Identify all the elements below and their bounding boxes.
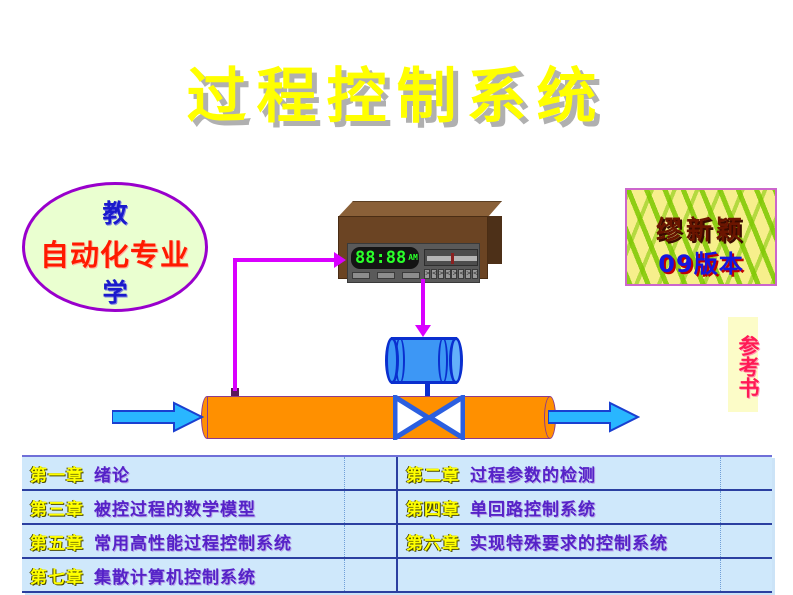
controller-device[interactable]: 88:88AM > < > < > < > < bbox=[338, 201, 502, 279]
chapter-number: 第一章 bbox=[30, 466, 84, 486]
keypad-key-2[interactable]: < bbox=[431, 269, 437, 279]
chapter-number: 第三章 bbox=[30, 500, 84, 520]
author-box: 缪新颖 09版本 bbox=[625, 188, 777, 286]
department-oval-bottom-char: 学 bbox=[25, 273, 205, 309]
slider-knob[interactable] bbox=[451, 253, 454, 264]
keypad-key-8[interactable]: < bbox=[472, 269, 478, 279]
table-row[interactable]: 第五章常用高性能过程控制系统 第六章实现特殊要求的控制系统 bbox=[22, 524, 772, 558]
chapter-cell-3[interactable]: 第三章被控过程的数学模型 bbox=[22, 490, 345, 524]
valve-actuator bbox=[385, 337, 463, 384]
pipe-body bbox=[207, 396, 550, 439]
controller-button-row[interactable] bbox=[352, 272, 420, 280]
chapter-cell-4[interactable]: 第四章单回路控制系统 bbox=[397, 490, 721, 524]
inlet-flow-arrow-icon bbox=[112, 401, 204, 437]
contents-table: 第一章绪论 第二章过程参数的检测 第三章被控过程的数学模型 第四章单回路控制系统… bbox=[22, 455, 772, 593]
controller-front-face: 88:88AM > < > < > < > < bbox=[338, 216, 488, 279]
table-row[interactable]: 第一章绪论 第二章过程参数的检测 bbox=[22, 456, 772, 490]
keypad-key-6[interactable]: < bbox=[458, 269, 464, 279]
table-row[interactable]: 第七章集散计算机控制系统 bbox=[22, 558, 772, 592]
outlet-flow-arrow-icon bbox=[548, 401, 640, 437]
chapter-title: 绪论 bbox=[94, 466, 130, 486]
measurement-signal-line-horizontal bbox=[233, 258, 338, 262]
chapter-title: 集散计算机控制系统 bbox=[94, 568, 256, 588]
department-oval-top-char: 教 bbox=[25, 194, 205, 230]
spacer-cell-right-1 bbox=[721, 456, 772, 490]
author-version: 09版本 bbox=[627, 244, 775, 279]
chapter-cell-7[interactable]: 第七章集散计算机控制系统 bbox=[22, 558, 345, 592]
chapter-cell-1[interactable]: 第一章绪论 bbox=[22, 456, 345, 490]
spacer-cell-right-4 bbox=[721, 558, 772, 592]
keypad-key-7[interactable]: > bbox=[465, 269, 471, 279]
chapter-number: 第七章 bbox=[30, 568, 84, 588]
page-title: 过程控制系统 bbox=[0, 66, 793, 129]
actuator-cap-left bbox=[385, 337, 399, 384]
chapter-number: 第五章 bbox=[30, 534, 84, 554]
keypad-key-1[interactable]: > bbox=[424, 269, 430, 279]
controller-panel: 88:88AM > < > < > < > < bbox=[347, 243, 480, 283]
lcd-meridiem-text: AM bbox=[408, 253, 418, 262]
control-signal-arrow-icon bbox=[415, 325, 431, 337]
spacer-cell-left-4 bbox=[345, 558, 397, 592]
control-valve bbox=[393, 395, 465, 440]
chapter-cell-8[interactable] bbox=[397, 558, 721, 592]
controller-slider[interactable] bbox=[424, 249, 478, 266]
measurement-signal-line-vertical bbox=[233, 258, 237, 391]
lcd-time-text: 88:88 bbox=[355, 248, 406, 268]
actuator-rib-right bbox=[438, 337, 448, 384]
controller-keypad[interactable]: > < > < > < > < bbox=[424, 269, 478, 280]
chapter-cell-6[interactable]: 第六章实现特殊要求的控制系统 bbox=[397, 524, 721, 558]
controller-button-1[interactable] bbox=[352, 272, 370, 279]
measurement-signal-arrow-icon bbox=[334, 252, 346, 268]
chapter-number: 第二章 bbox=[406, 466, 460, 486]
chapter-cell-5[interactable]: 第五章常用高性能过程控制系统 bbox=[22, 524, 345, 558]
spacer-cell-right-3 bbox=[721, 524, 772, 558]
keypad-key-3[interactable]: > bbox=[438, 269, 444, 279]
chapter-cell-2[interactable]: 第二章过程参数的检测 bbox=[397, 456, 721, 490]
chapter-title: 单回路控制系统 bbox=[470, 500, 596, 520]
spacer-cell-left-1 bbox=[345, 456, 397, 490]
department-oval-major-text: 自动化专业 bbox=[25, 232, 205, 274]
chapter-title: 过程参数的检测 bbox=[470, 466, 596, 486]
chapter-number: 第四章 bbox=[406, 500, 460, 520]
spacer-cell-left-2 bbox=[345, 490, 397, 524]
keypad-key-4[interactable]: < bbox=[445, 269, 451, 279]
department-oval: 教 自动化专业 学 bbox=[22, 182, 208, 312]
actuator-cap-right bbox=[449, 337, 463, 384]
controller-button-2[interactable] bbox=[377, 272, 395, 279]
chapter-number: 第六章 bbox=[406, 534, 460, 554]
chapter-title: 常用高性能过程控制系统 bbox=[94, 534, 292, 554]
chapter-title: 被控过程的数学模型 bbox=[94, 500, 256, 520]
keypad-key-5[interactable]: > bbox=[451, 269, 457, 279]
controller-lcd-display: 88:88AM bbox=[351, 247, 419, 269]
reference-book-label: 参考书 bbox=[728, 317, 758, 412]
author-name: 缪新颖 bbox=[627, 210, 775, 247]
spacer-cell-left-3 bbox=[345, 524, 397, 558]
chapter-title: 实现特殊要求的控制系统 bbox=[470, 534, 668, 554]
controller-button-3[interactable] bbox=[402, 272, 420, 279]
control-signal-line bbox=[421, 279, 425, 327]
spacer-cell-right-2 bbox=[721, 490, 772, 524]
controller-side-face bbox=[487, 216, 502, 264]
table-row[interactable]: 第三章被控过程的数学模型 第四章单回路控制系统 bbox=[22, 490, 772, 524]
